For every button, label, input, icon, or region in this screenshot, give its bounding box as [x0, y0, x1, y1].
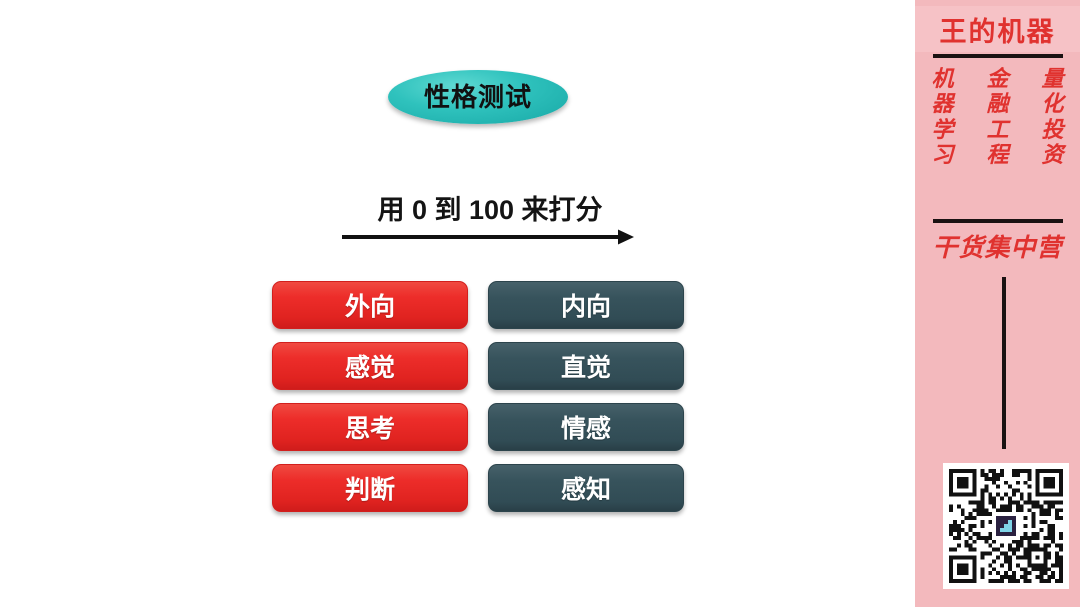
trait-button-label: 直觉	[561, 348, 611, 384]
brand-char: 习	[931, 144, 953, 166]
trait-button-introversion[interactable]: 内向	[488, 281, 684, 329]
brand-char: 工	[986, 119, 1008, 141]
qr-code-canvas	[949, 469, 1063, 583]
trait-button-intuition[interactable]: 直觉	[488, 342, 684, 390]
brand-title: 王的机器	[940, 10, 1056, 49]
brand-tagline: 干货集中营	[915, 228, 1080, 264]
brand-char: 器	[931, 93, 953, 115]
trait-button-label: 感知	[561, 470, 611, 506]
brand-column-machine-learning: 机 器 学 习	[931, 68, 953, 167]
brand-char: 量	[1041, 68, 1063, 90]
qr-code-icon[interactable]	[943, 463, 1069, 589]
brand-column-financial-engineering: 金 融 工 程	[986, 68, 1008, 167]
brand-char: 资	[1041, 144, 1063, 166]
trait-button-sensing[interactable]: 感觉	[272, 342, 468, 390]
brand-rule-top	[933, 54, 1063, 58]
trait-button-thinking[interactable]: 思考	[272, 403, 468, 451]
trait-button-label: 思考	[345, 409, 395, 445]
brand-column-quantitative-investment: 量 化 投 资	[1041, 68, 1063, 167]
brand-char: 融	[986, 93, 1008, 115]
scale-caption: 用 0 到 100 来打分	[330, 188, 650, 227]
brand-char: 金	[986, 68, 1008, 90]
trait-button-label: 外向	[345, 287, 395, 323]
brand-char: 投	[1041, 119, 1063, 141]
trait-button-label: 情感	[561, 409, 611, 445]
brand-char: 机	[931, 68, 953, 90]
trait-button-label: 判断	[345, 470, 395, 506]
brand-char: 程	[986, 144, 1008, 166]
title-ellipse: 性格测试	[388, 70, 568, 124]
trait-button-extraversion[interactable]: 外向	[272, 281, 468, 329]
brand-divider-vertical	[1002, 277, 1006, 449]
trait-button-grid: 外向 内向 感觉 直觉 思考 情感 判断 感知	[272, 281, 684, 512]
brand-topic-columns: 机 器 学 习 金 融 工 程 量 化 投 资	[915, 68, 1080, 210]
brand-char: 化	[1041, 93, 1063, 115]
brand-title-band: 王的机器	[915, 6, 1080, 52]
trait-button-perceiving[interactable]: 感知	[488, 464, 684, 512]
trait-button-label: 内向	[561, 287, 611, 323]
trait-button-label: 感觉	[345, 348, 395, 384]
trait-button-feeling[interactable]: 情感	[488, 403, 684, 451]
right-arrow-icon	[342, 228, 634, 246]
slide-canvas: 性格测试 用 0 到 100 来打分 外向 内向 感觉 直觉 思考 情感 判断	[0, 0, 1080, 607]
brand-char: 学	[931, 119, 953, 141]
page-title: 性格测试	[424, 84, 532, 110]
brand-rule-middle	[933, 219, 1063, 223]
trait-button-judging[interactable]: 判断	[272, 464, 468, 512]
